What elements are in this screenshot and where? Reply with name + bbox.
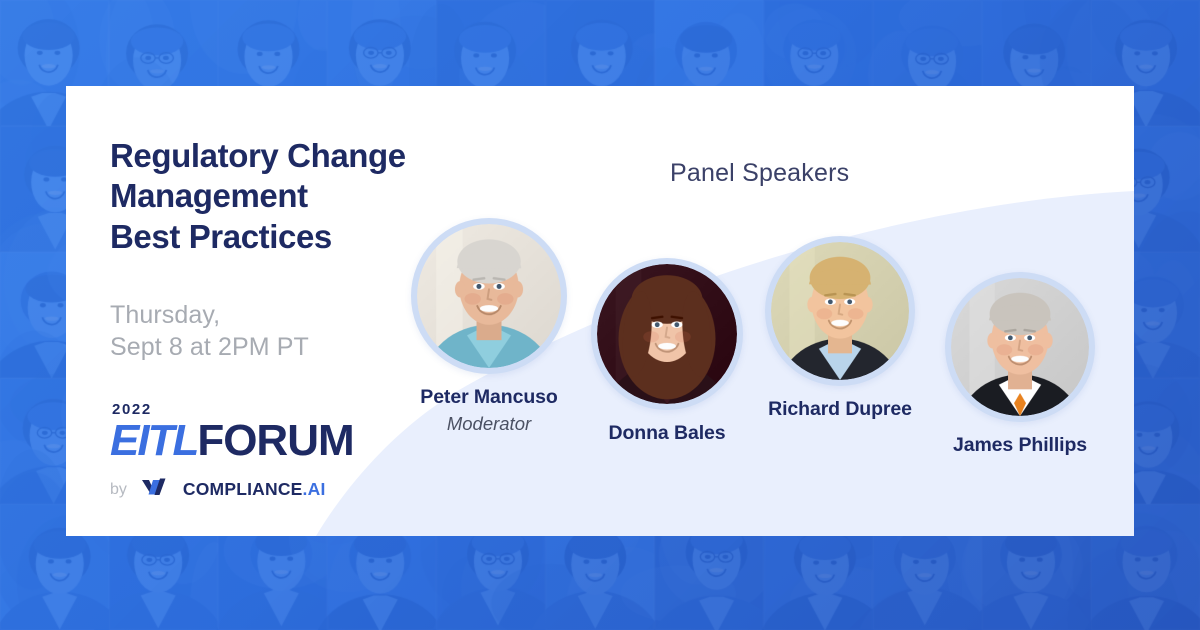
avatar-1 (597, 264, 737, 404)
event-day: Thursday, (110, 299, 440, 331)
avatar-3 (951, 278, 1089, 416)
company-name-suffix: .AI (303, 479, 326, 499)
event-time: Sept 8 at 2PM PT (110, 331, 440, 363)
logo-wordmark: EITL FORUM (110, 419, 440, 463)
avatar-ring-1 (591, 258, 743, 410)
event-info: Regulatory Change Management Best Practi… (110, 136, 440, 363)
speaker-card-2: Richard Dupree (752, 236, 928, 421)
speaker-name-1: Donna Bales (584, 422, 750, 445)
speaker-name-3: James Phillips (932, 434, 1108, 457)
speaker-name-2: Richard Dupree (752, 398, 928, 421)
title-line-2: Management (110, 176, 440, 216)
compliance-ai-mark-icon (140, 477, 170, 502)
speaker-card-3: James Phillips (932, 272, 1108, 457)
logo-eitl: EITL (110, 419, 197, 463)
event-datetime: Thursday, Sept 8 at 2PM PT (110, 299, 440, 363)
speaker-card-0: Peter Mancuso Moderator (402, 218, 576, 435)
panel-speakers-heading: Panel Speakers (670, 159, 849, 188)
avatar-ring-2 (765, 236, 915, 386)
company-name-main: COMPLIANCE (183, 479, 303, 499)
brand-logo: 2022 EITL FORUM by COMPLIANCE.AI (110, 401, 440, 502)
logo-forum: FORUM (197, 419, 353, 463)
avatar-ring-0 (411, 218, 567, 374)
avatar-0 (417, 224, 561, 368)
speaker-card-1: Donna Bales (584, 258, 750, 445)
company-name: COMPLIANCE.AI (183, 481, 326, 499)
logo-byline: by COMPLIANCE.AI (110, 477, 440, 502)
avatar-2 (771, 242, 909, 380)
speaker-name-0: Peter Mancuso (402, 386, 576, 409)
title-line-1: Regulatory Change (110, 136, 440, 176)
page-title: Regulatory Change Management Best Practi… (110, 136, 440, 257)
title-line-3: Best Practices (110, 217, 440, 257)
event-card: Regulatory Change Management Best Practi… (66, 86, 1134, 536)
by-label: by (110, 481, 127, 499)
avatar-ring-3 (945, 272, 1095, 422)
speaker-role-0: Moderator (402, 413, 576, 435)
